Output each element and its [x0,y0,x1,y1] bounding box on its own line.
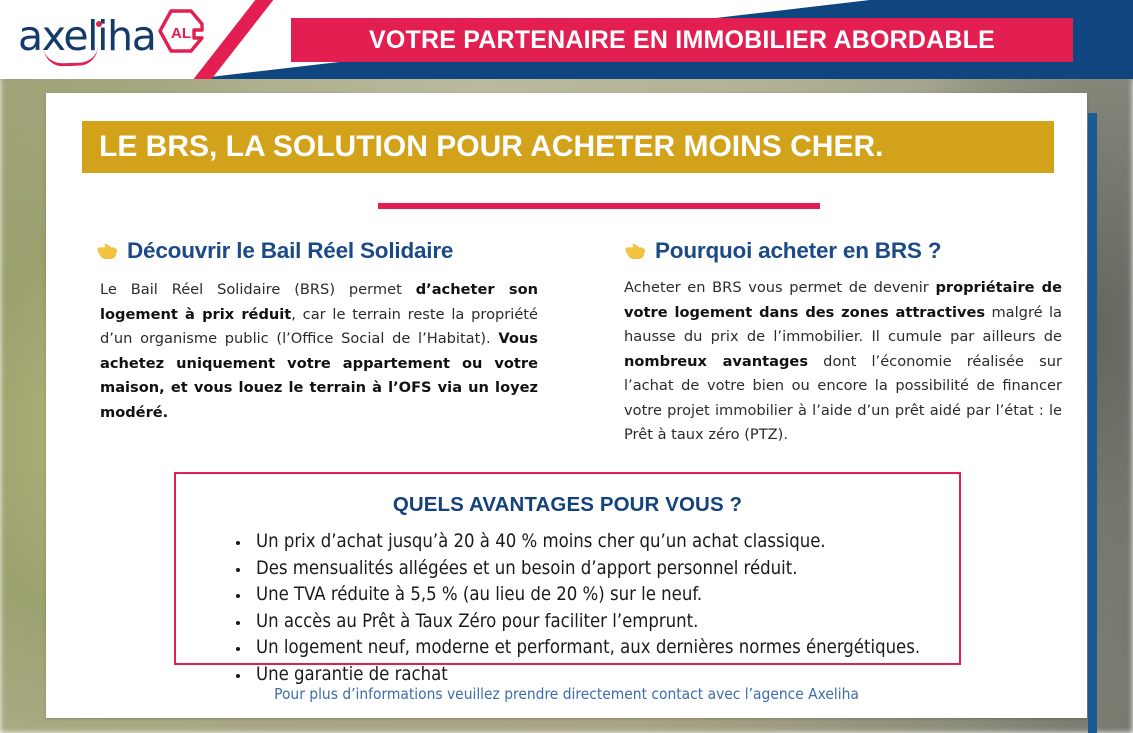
logo-hexagon-badge-icon: AL [157,8,205,54]
advantages-title: QUELS AVANTAGES POUR VOUS ? [176,493,959,517]
column-left-paragraph: Le Bail Réel Solidaire (BRS) permet d’ac… [100,278,538,425]
svg-text:AL: AL [171,25,191,42]
advantages-list-item: Un accès au Prêt à Taux Zéro pour facili… [234,609,959,636]
header-banner-title: VOTRE PARTENAIRE EN IMMOBILIER ABORDABLE [369,26,995,55]
advantages-list-item: Un prix d’achat jusqu’à 20 à 40 % moins … [234,529,959,556]
column-discover-brs: Découvrir le Bail Réel Solidaire Le Bail… [94,238,539,425]
slide-root: axeliha AL VOTRE PARTENAIRE EN IMMOBILIE… [0,0,1133,733]
advantages-list: Un prix d’achat jusqu’à 20 à 40 % moins … [176,529,959,688]
logo-dot-accent [96,21,102,27]
gold-title-banner: LE BRS, LA SOLUTION POUR ACHETER MOINS C… [82,121,1054,173]
header-banner: VOTRE PARTENAIRE EN IMMOBILIER ABORDABLE [291,18,1073,62]
footer-contact-text: Pour plus d’informations veuillez prendr… [274,685,859,703]
logo[interactable]: axeliha AL [18,14,205,58]
page-header: axeliha AL VOTRE PARTENAIRE EN IMMOBILIE… [0,0,1133,79]
column-heading-right: Pourquoi acheter en BRS ? [624,238,1062,264]
card-footer: Pour plus d’informations veuillez prendr… [46,685,1087,704]
column-heading-left: Découvrir le Bail Réel Solidaire [96,238,539,264]
pointing-hand-icon [624,242,646,261]
column-heading-left-text: Découvrir le Bail Réel Solidaire [127,238,453,264]
column-why-brs: Pourquoi acheter en BRS ? Acheter en BRS… [624,238,1062,448]
advantages-list-item: Une TVA réduite à 5,5 % (au lieu de 20 %… [234,582,959,609]
page-title: LE BRS, LA SOLUTION POUR ACHETER MOINS C… [99,130,883,164]
column-heading-right-text: Pourquoi acheter en BRS ? [655,238,941,264]
advantages-list-item: Un logement neuf, moderne et performant,… [234,635,959,662]
column-right-paragraph: Acheter en BRS vous permet de devenir pr… [624,276,1062,448]
pointing-hand-icon [96,242,118,261]
advantages-box: QUELS AVANTAGES POUR VOUS ? Un prix d’ac… [174,472,961,665]
red-divider [378,203,820,209]
card-side-accent-bar [1088,113,1097,733]
advantages-list-item: Des mensualités allégées et un besoin d’… [234,556,959,583]
content-card: LE BRS, LA SOLUTION POUR ACHETER MOINS C… [46,93,1087,718]
